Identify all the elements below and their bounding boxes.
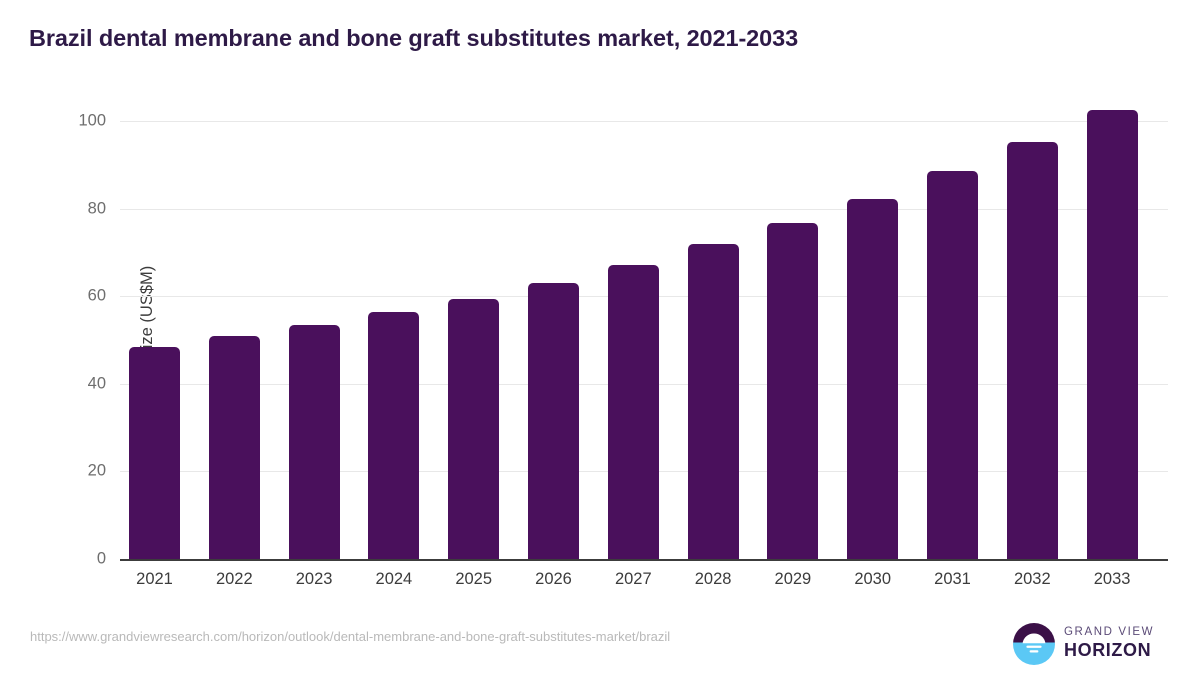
bar[interactable] [129, 347, 180, 559]
y-axis-tick-label: 20 [36, 462, 106, 481]
bar[interactable] [767, 223, 818, 559]
logo-text-horizon: HORIZON [1064, 640, 1164, 660]
x-axis-tick-label: 2031 [908, 570, 998, 589]
x-axis-tick-label: 2022 [189, 570, 279, 589]
x-axis-tick-label: 2027 [588, 570, 678, 589]
y-axis-tick-label: 100 [36, 112, 106, 131]
bar[interactable] [289, 325, 340, 559]
bar[interactable] [688, 244, 739, 559]
horizon-logo-icon [1012, 622, 1056, 666]
x-axis-tick-label: 2029 [748, 570, 838, 589]
logo-wordmark: GRAND VIEW HORIZON [1064, 625, 1164, 660]
bar[interactable] [448, 299, 499, 559]
source-url[interactable]: https://www.grandviewresearch.com/horizo… [30, 629, 670, 644]
x-axis-tick-label: 2033 [1067, 570, 1157, 589]
y-axis-tick-label: 40 [36, 374, 106, 393]
chart-card: Brazil dental membrane and bone graft su… [0, 0, 1200, 675]
x-axis-tick-label: 2023 [269, 570, 359, 589]
bar[interactable] [1007, 142, 1058, 559]
gridline [120, 121, 1168, 122]
page-title: Brazil dental membrane and bone graft su… [29, 25, 798, 52]
bar[interactable] [847, 199, 898, 559]
y-axis-tick-label: 80 [36, 199, 106, 218]
y-axis-tick-label: 60 [36, 287, 106, 306]
y-axis-tick-label: 0 [36, 550, 106, 569]
x-axis-tick-label: 2030 [828, 570, 918, 589]
x-axis-tick-label: 2032 [987, 570, 1077, 589]
bar[interactable] [608, 265, 659, 559]
x-axis-tick-label: 2026 [509, 570, 599, 589]
brand-logo: GRAND VIEW HORIZON [1012, 620, 1162, 668]
bar[interactable] [1087, 110, 1138, 559]
x-axis-tick-label: 2028 [668, 570, 758, 589]
bar[interactable] [209, 336, 260, 559]
bar[interactable] [528, 283, 579, 559]
bar[interactable] [927, 171, 978, 559]
x-axis-line [120, 559, 1168, 561]
x-axis-tick-label: 2024 [349, 570, 439, 589]
logo-text-grand-view: GRAND VIEW [1064, 625, 1164, 640]
x-axis-tick-label: 2021 [110, 570, 200, 589]
x-axis-tick-label: 2025 [429, 570, 519, 589]
bar[interactable] [368, 312, 419, 559]
plot-area [120, 121, 1168, 559]
